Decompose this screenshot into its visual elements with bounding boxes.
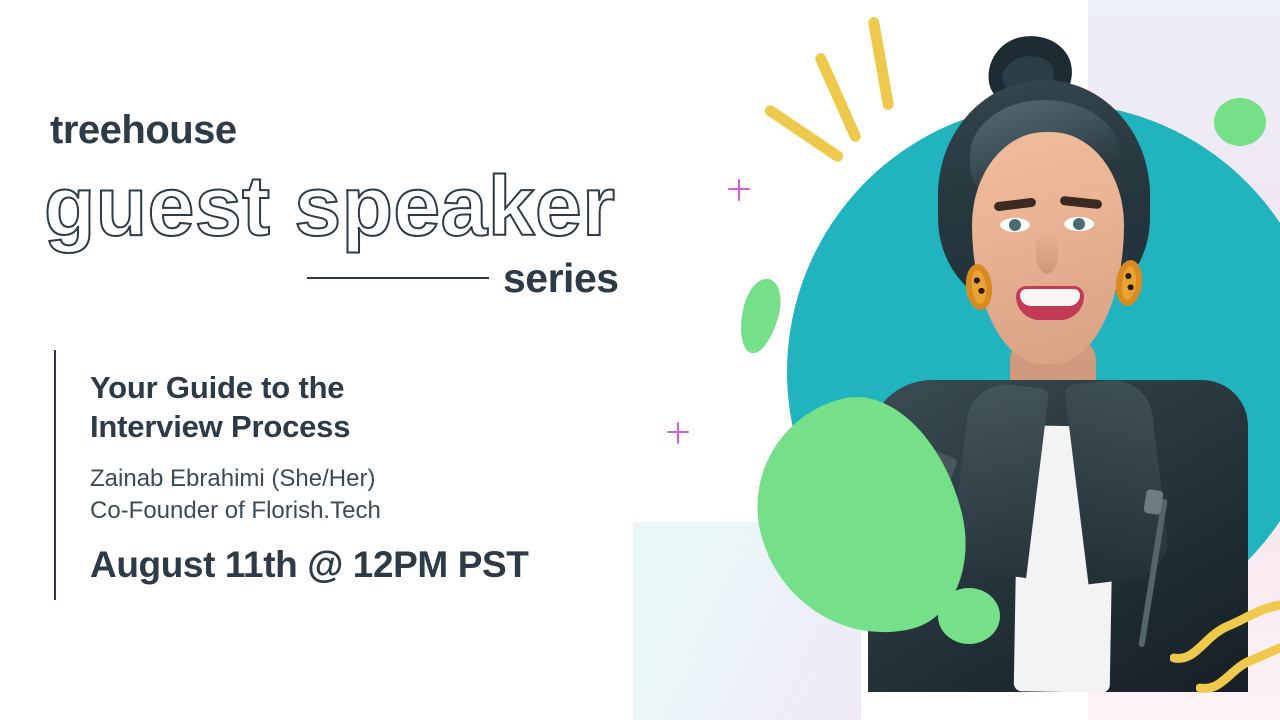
event-info-block: Your Guide to the Interview Process Zain…	[90, 368, 630, 586]
eye-left	[1000, 218, 1030, 232]
plus-mark-icon-mid	[667, 422, 689, 444]
series-divider-rule	[307, 277, 489, 279]
green-pill-icon	[733, 275, 786, 357]
event-datetime: August 11th @ 12PM PST	[90, 544, 630, 586]
green-dot-low-icon	[938, 588, 1000, 644]
series-word: series	[503, 255, 619, 302]
series-headline: guest speaker	[44, 158, 615, 255]
plus-mark-icon-top	[728, 179, 750, 201]
talk-title-line1: Your Guide to the	[90, 368, 630, 407]
nose	[1036, 234, 1058, 274]
info-vertical-rule	[54, 350, 56, 600]
eye-right	[1064, 217, 1094, 231]
speaker-role: Co-Founder of Florish.Tech	[90, 495, 630, 527]
series-row: series	[307, 254, 637, 302]
talk-title: Your Guide to the Interview Process	[90, 368, 630, 447]
talk-title-line2: Interview Process	[90, 407, 630, 446]
speaker-name: Zainab Ebrahimi (She/Her)	[90, 463, 630, 495]
promo-slide: treehouse guest speaker series Your Guid…	[0, 0, 1280, 720]
squiggle-icon-2	[1196, 636, 1280, 696]
teeth	[1020, 289, 1080, 306]
brand-name: treehouse	[50, 108, 237, 153]
